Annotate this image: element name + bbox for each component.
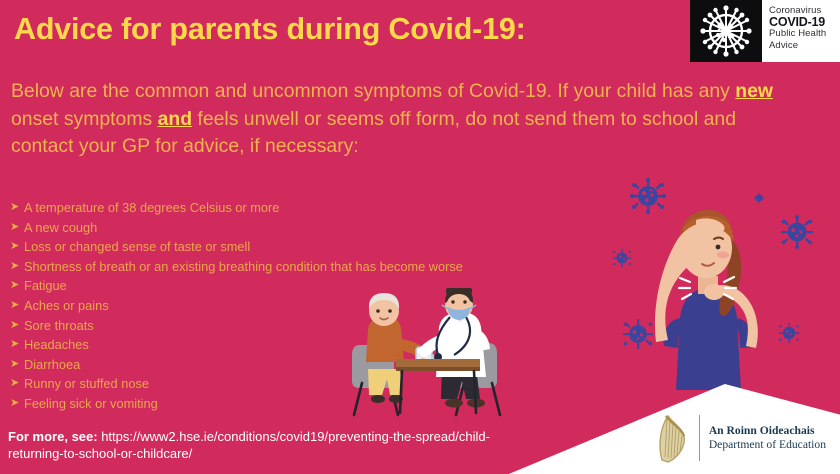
- symptom-label: Shortness of breath or an existing breat…: [24, 259, 463, 274]
- virus-particle-icon: [612, 248, 632, 268]
- symptom-label: Fatigue: [24, 278, 67, 293]
- intro-paragraph: Below are the common and uncommon sympto…: [11, 78, 801, 161]
- woman-with-headache-and-sore-throat-illustration: [638, 190, 778, 390]
- symptom-label: Sore throats: [24, 318, 94, 333]
- intro-part-1: Below are the common and uncommon sympto…: [11, 80, 735, 102]
- virus-icon: [690, 0, 762, 62]
- arrow-bullet-icon: ➤: [10, 276, 19, 296]
- logo-divider: [699, 415, 700, 461]
- department-name-english: Department of Education: [709, 438, 826, 453]
- footer-label: For more, see:: [8, 429, 98, 444]
- virus-particle-icon: [780, 215, 814, 249]
- arrow-bullet-icon: ➤: [10, 374, 19, 394]
- arrow-bullet-icon: ➤: [10, 237, 19, 257]
- arrow-bullet-icon: ➤: [10, 218, 19, 238]
- page-title: Advice for parents during Covid-19:: [14, 12, 674, 47]
- logo-line-advice: Advice: [769, 40, 798, 51]
- department-name-block: An Roinn Oideachais Department of Educat…: [709, 424, 826, 453]
- symptom-label: A temperature of 38 degrees Celsius or m…: [24, 200, 279, 215]
- arrow-bullet-icon: ➤: [10, 335, 19, 355]
- arrow-bullet-icon: ➤: [10, 394, 19, 414]
- logo-line-public-health: Public Health: [769, 28, 826, 39]
- symptom-label: Feeling sick or vomiting: [24, 396, 158, 411]
- logo-text-block: Coronavirus COVID-19 Public Health Advic…: [762, 0, 840, 62]
- symptom-list-item: ➤Loss or changed sense of taste or smell: [10, 237, 610, 257]
- arrow-bullet-icon: ➤: [10, 355, 19, 375]
- harp-icon: [656, 412, 690, 464]
- department-name-irish: An Roinn Oideachais: [709, 424, 826, 439]
- covid-advice-poster: Coronavirus COVID-19 Public Health Advic…: [0, 0, 840, 474]
- arrow-bullet-icon: ➤: [10, 316, 19, 336]
- logo-line-covid19: COVID-19: [769, 17, 836, 29]
- intro-part-2: onset symptoms: [11, 108, 158, 130]
- symptom-label: Runny or stuffed nose: [24, 376, 149, 391]
- arrow-bullet-icon: ➤: [10, 198, 19, 218]
- department-of-education-logo: An Roinn Oideachais Department of Educat…: [656, 412, 826, 464]
- doctor-examining-patient-illustration: [338, 283, 528, 423]
- arrow-bullet-icon: ➤: [10, 257, 19, 277]
- symptom-list-item: ➤A new cough: [10, 218, 610, 238]
- intro-emphasis-and: and: [158, 108, 192, 130]
- symptom-label: Loss or changed sense of taste or smell: [24, 239, 250, 254]
- symptom-label: Diarrhoea: [24, 357, 80, 372]
- symptom-list-item: ➤A temperature of 38 degrees Celsius or …: [10, 198, 610, 218]
- symptom-label: A new cough: [24, 220, 97, 235]
- covid-public-health-advice-logo: Coronavirus COVID-19 Public Health Advic…: [690, 0, 840, 62]
- footer-link-text[interactable]: For more, see: https://www2.hse.ie/condi…: [8, 428, 528, 462]
- virus-particle-icon: [778, 322, 800, 344]
- symptom-list-item: ➤Shortness of breath or an existing brea…: [10, 257, 610, 277]
- intro-emphasis-new: new: [735, 80, 773, 102]
- arrow-bullet-icon: ➤: [10, 296, 19, 316]
- symptom-label: Headaches: [24, 337, 89, 352]
- symptom-label: Aches or pains: [24, 298, 109, 313]
